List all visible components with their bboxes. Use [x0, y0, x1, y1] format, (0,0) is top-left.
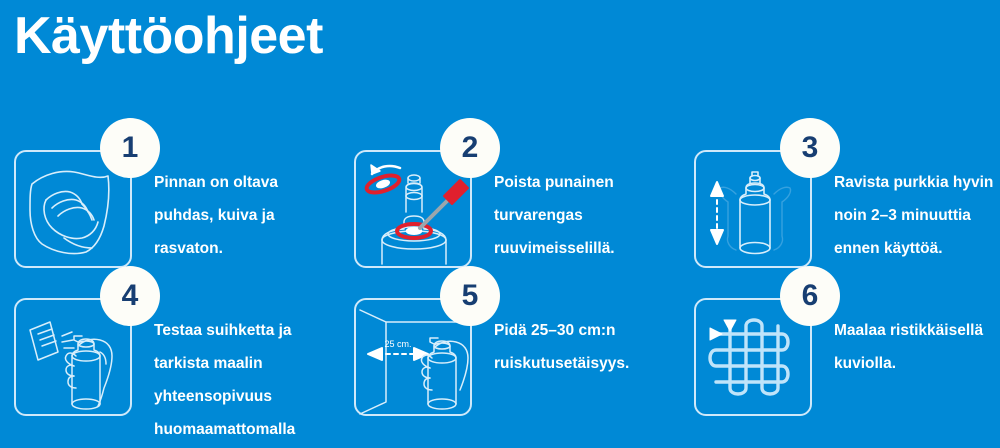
steps-grid: 1 Pinnan on oltava puhdas, kuiva ja rasv…	[0, 128, 1000, 448]
step-2-number-badge: 2	[440, 118, 500, 178]
step-5-text: Pidä 25–30 cm:n ruiskutusetäisyys.	[494, 314, 680, 380]
step-5-number-badge: 5	[440, 266, 500, 326]
step-5: 25 cm. 5 Pidä 25	[340, 278, 680, 448]
step-3-icon-wrap: 3	[694, 150, 812, 268]
step-1-icon-wrap: 1	[14, 150, 132, 268]
step-6-text: Maalaa ristikkäisellä kuviolla.	[834, 314, 1000, 380]
step-2: 2 Poista punainen turvarengas ruuvimeiss…	[340, 128, 680, 278]
step-4-icon-wrap: 4	[14, 298, 132, 416]
step-4-text: Testaa suihketta ja tarkista maalin yhte…	[154, 314, 340, 448]
instructions-infographic: Käyttöohjeet 1 Pinnan on o	[0, 0, 1000, 448]
step-5-icon-wrap: 25 cm. 5	[354, 298, 472, 416]
step-1-text: Pinnan on oltava puhdas, kuiva ja rasvat…	[154, 166, 340, 265]
step-6: 6 Maalaa ristikkäisellä kuviolla.	[680, 278, 1000, 448]
page-title: Käyttöohjeet	[14, 4, 323, 68]
step-1: 1 Pinnan on oltava puhdas, kuiva ja rasv…	[0, 128, 340, 278]
step-1-number-badge: 1	[100, 118, 160, 178]
step-4: 4 Testaa suihketta ja tarkista maalin yh…	[0, 278, 340, 448]
step-3: 3 Ravista purkkia hyvin noin 2–3 minuutt…	[680, 128, 1000, 278]
step-2-icon-wrap: 2	[354, 150, 472, 268]
step-2-text: Poista punainen turvarengas ruuvimeissel…	[494, 166, 680, 265]
step-4-number-badge: 4	[100, 266, 160, 326]
spray-distance-label: 25 cm.	[384, 339, 411, 349]
step-3-number-badge: 3	[780, 118, 840, 178]
step-6-number-badge: 6	[780, 266, 840, 326]
step-6-icon-wrap: 6	[694, 298, 812, 416]
step-3-text: Ravista purkkia hyvin noin 2–3 minuuttia…	[834, 166, 1000, 265]
